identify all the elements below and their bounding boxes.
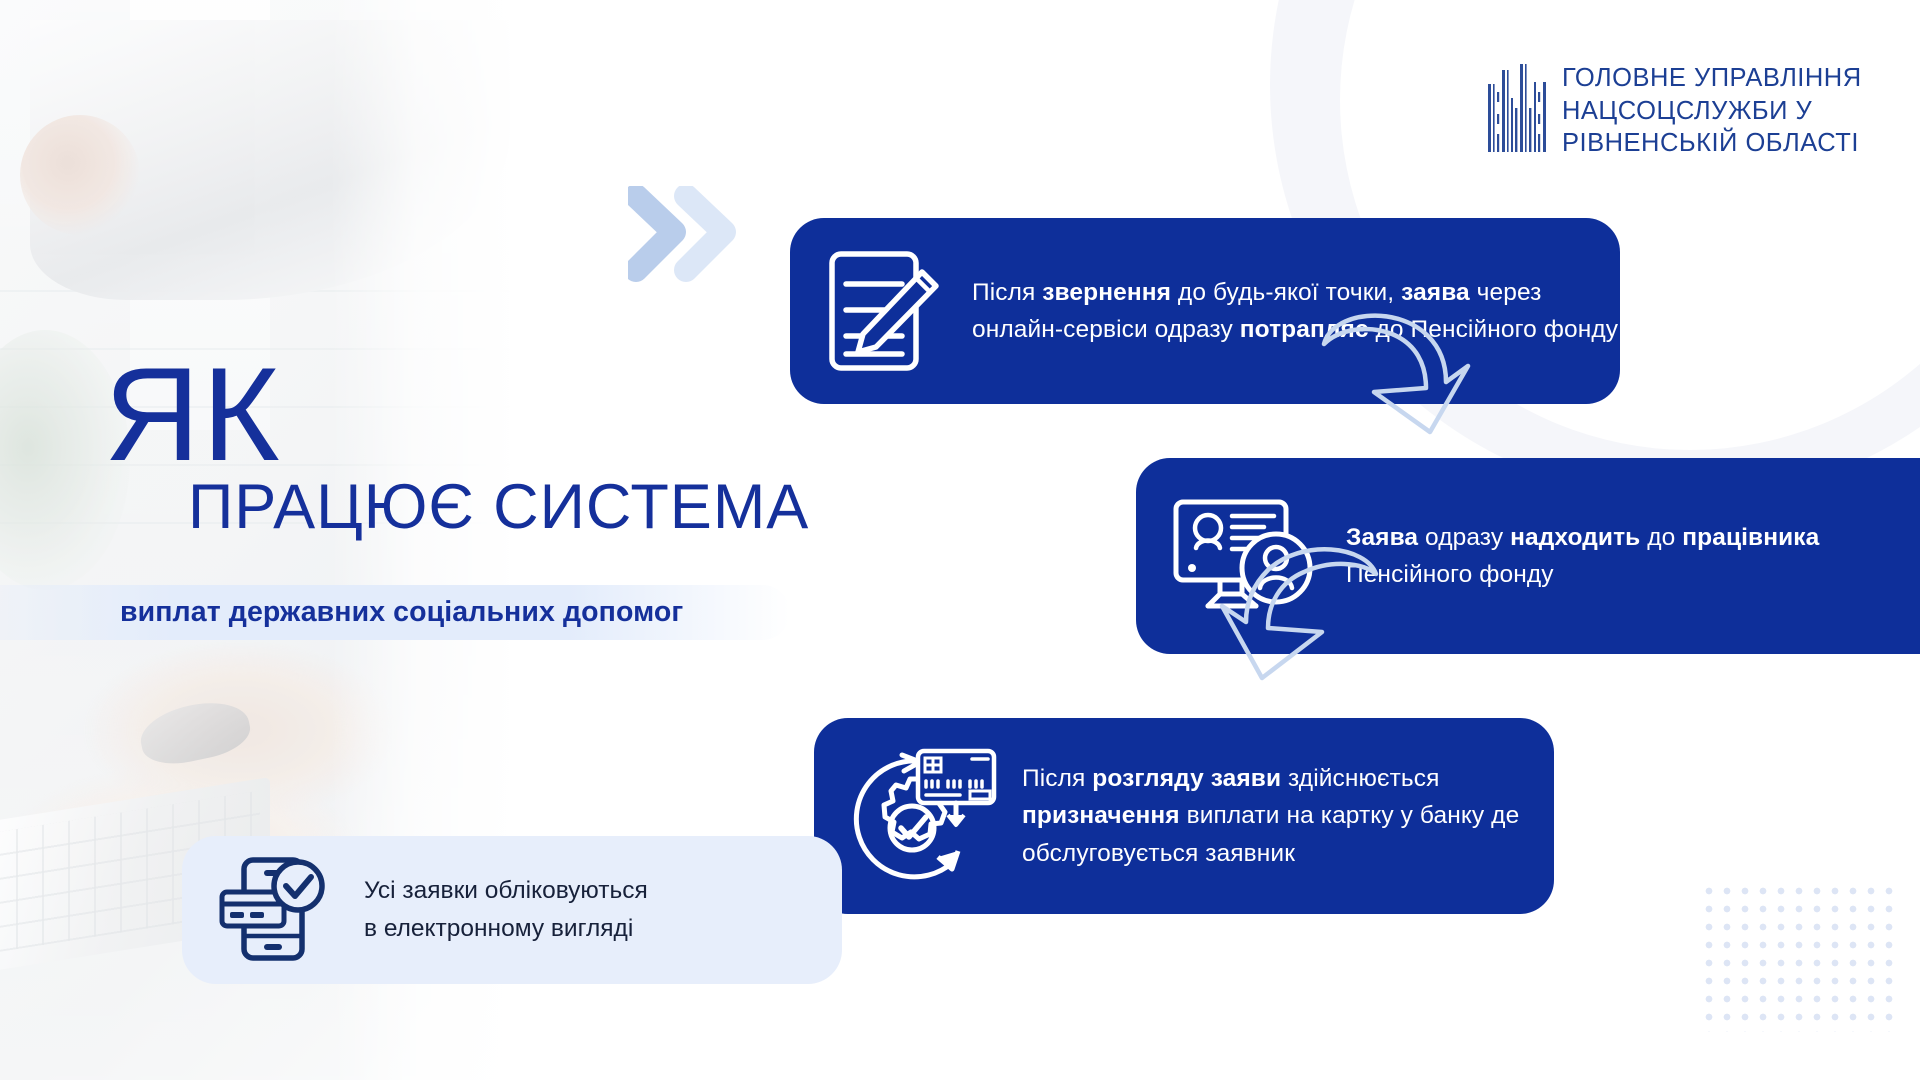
footnote-line-2: в електронному вигляді xyxy=(364,910,648,948)
step-card-1-text: Після звернення до будь-якої точки, заяв… xyxy=(972,274,1620,348)
subtitle-bar: виплат державних соціальних допомог xyxy=(0,585,790,640)
footnote-card-text: Усі заявки обліковуються в електронному … xyxy=(364,872,648,948)
footnote-card: Усі заявки обліковуються в електронному … xyxy=(182,836,842,984)
logo-text-block: ГОЛОВНЕ УПРАВЛІННЯ НАЦСОЦСЛУЖБИ У РІВНЕН… xyxy=(1562,62,1862,160)
step-card-3: Після розгляду заяви здійснюється призна… xyxy=(814,718,1554,914)
step-card-1: Після звернення до будь-якої точки, заяв… xyxy=(790,218,1620,404)
logo-line-3: РІВНЕНСЬКІЙ ОБЛАСТІ xyxy=(1562,127,1862,160)
double-chevron-right-icon xyxy=(628,186,748,282)
gear-check-bank-card-icon xyxy=(840,741,1000,891)
organization-logo: ГОЛОВНЕ УПРАВЛІННЯ НАЦСОЦСЛУЖБИ У РІВНЕН… xyxy=(1486,62,1862,160)
curved-arrow-down-left-icon xyxy=(1212,540,1382,690)
step-card-2-text: Заява одразу надходить до працівника Пен… xyxy=(1346,519,1920,593)
curved-arrow-down-right-icon xyxy=(1318,300,1478,440)
subtitle-text: виплат державних соціальних допомог xyxy=(0,596,683,629)
logo-line-2: НАЦСОЦСЛУЖБИ У xyxy=(1562,95,1862,128)
infographic-canvas: ГОЛОВНЕ УПРАВЛІННЯ НАЦСОЦСЛУЖБИ У РІВНЕН… xyxy=(0,0,1920,1080)
headline-secondary-word: ПРАЦЮЄ СИСТЕМА xyxy=(188,474,924,540)
phone-card-check-icon xyxy=(218,852,330,969)
step-card-3-text: Після розгляду заяви здійснюється призна… xyxy=(1022,760,1554,872)
dot-grid-pattern xyxy=(1700,882,1900,1032)
footnote-line-1: Усі заявки обліковуються xyxy=(364,872,648,910)
barcode-emblem-icon xyxy=(1486,62,1548,154)
logo-line-1: ГОЛОВНЕ УПРАВЛІННЯ xyxy=(1562,62,1862,95)
document-pen-icon xyxy=(824,248,942,374)
